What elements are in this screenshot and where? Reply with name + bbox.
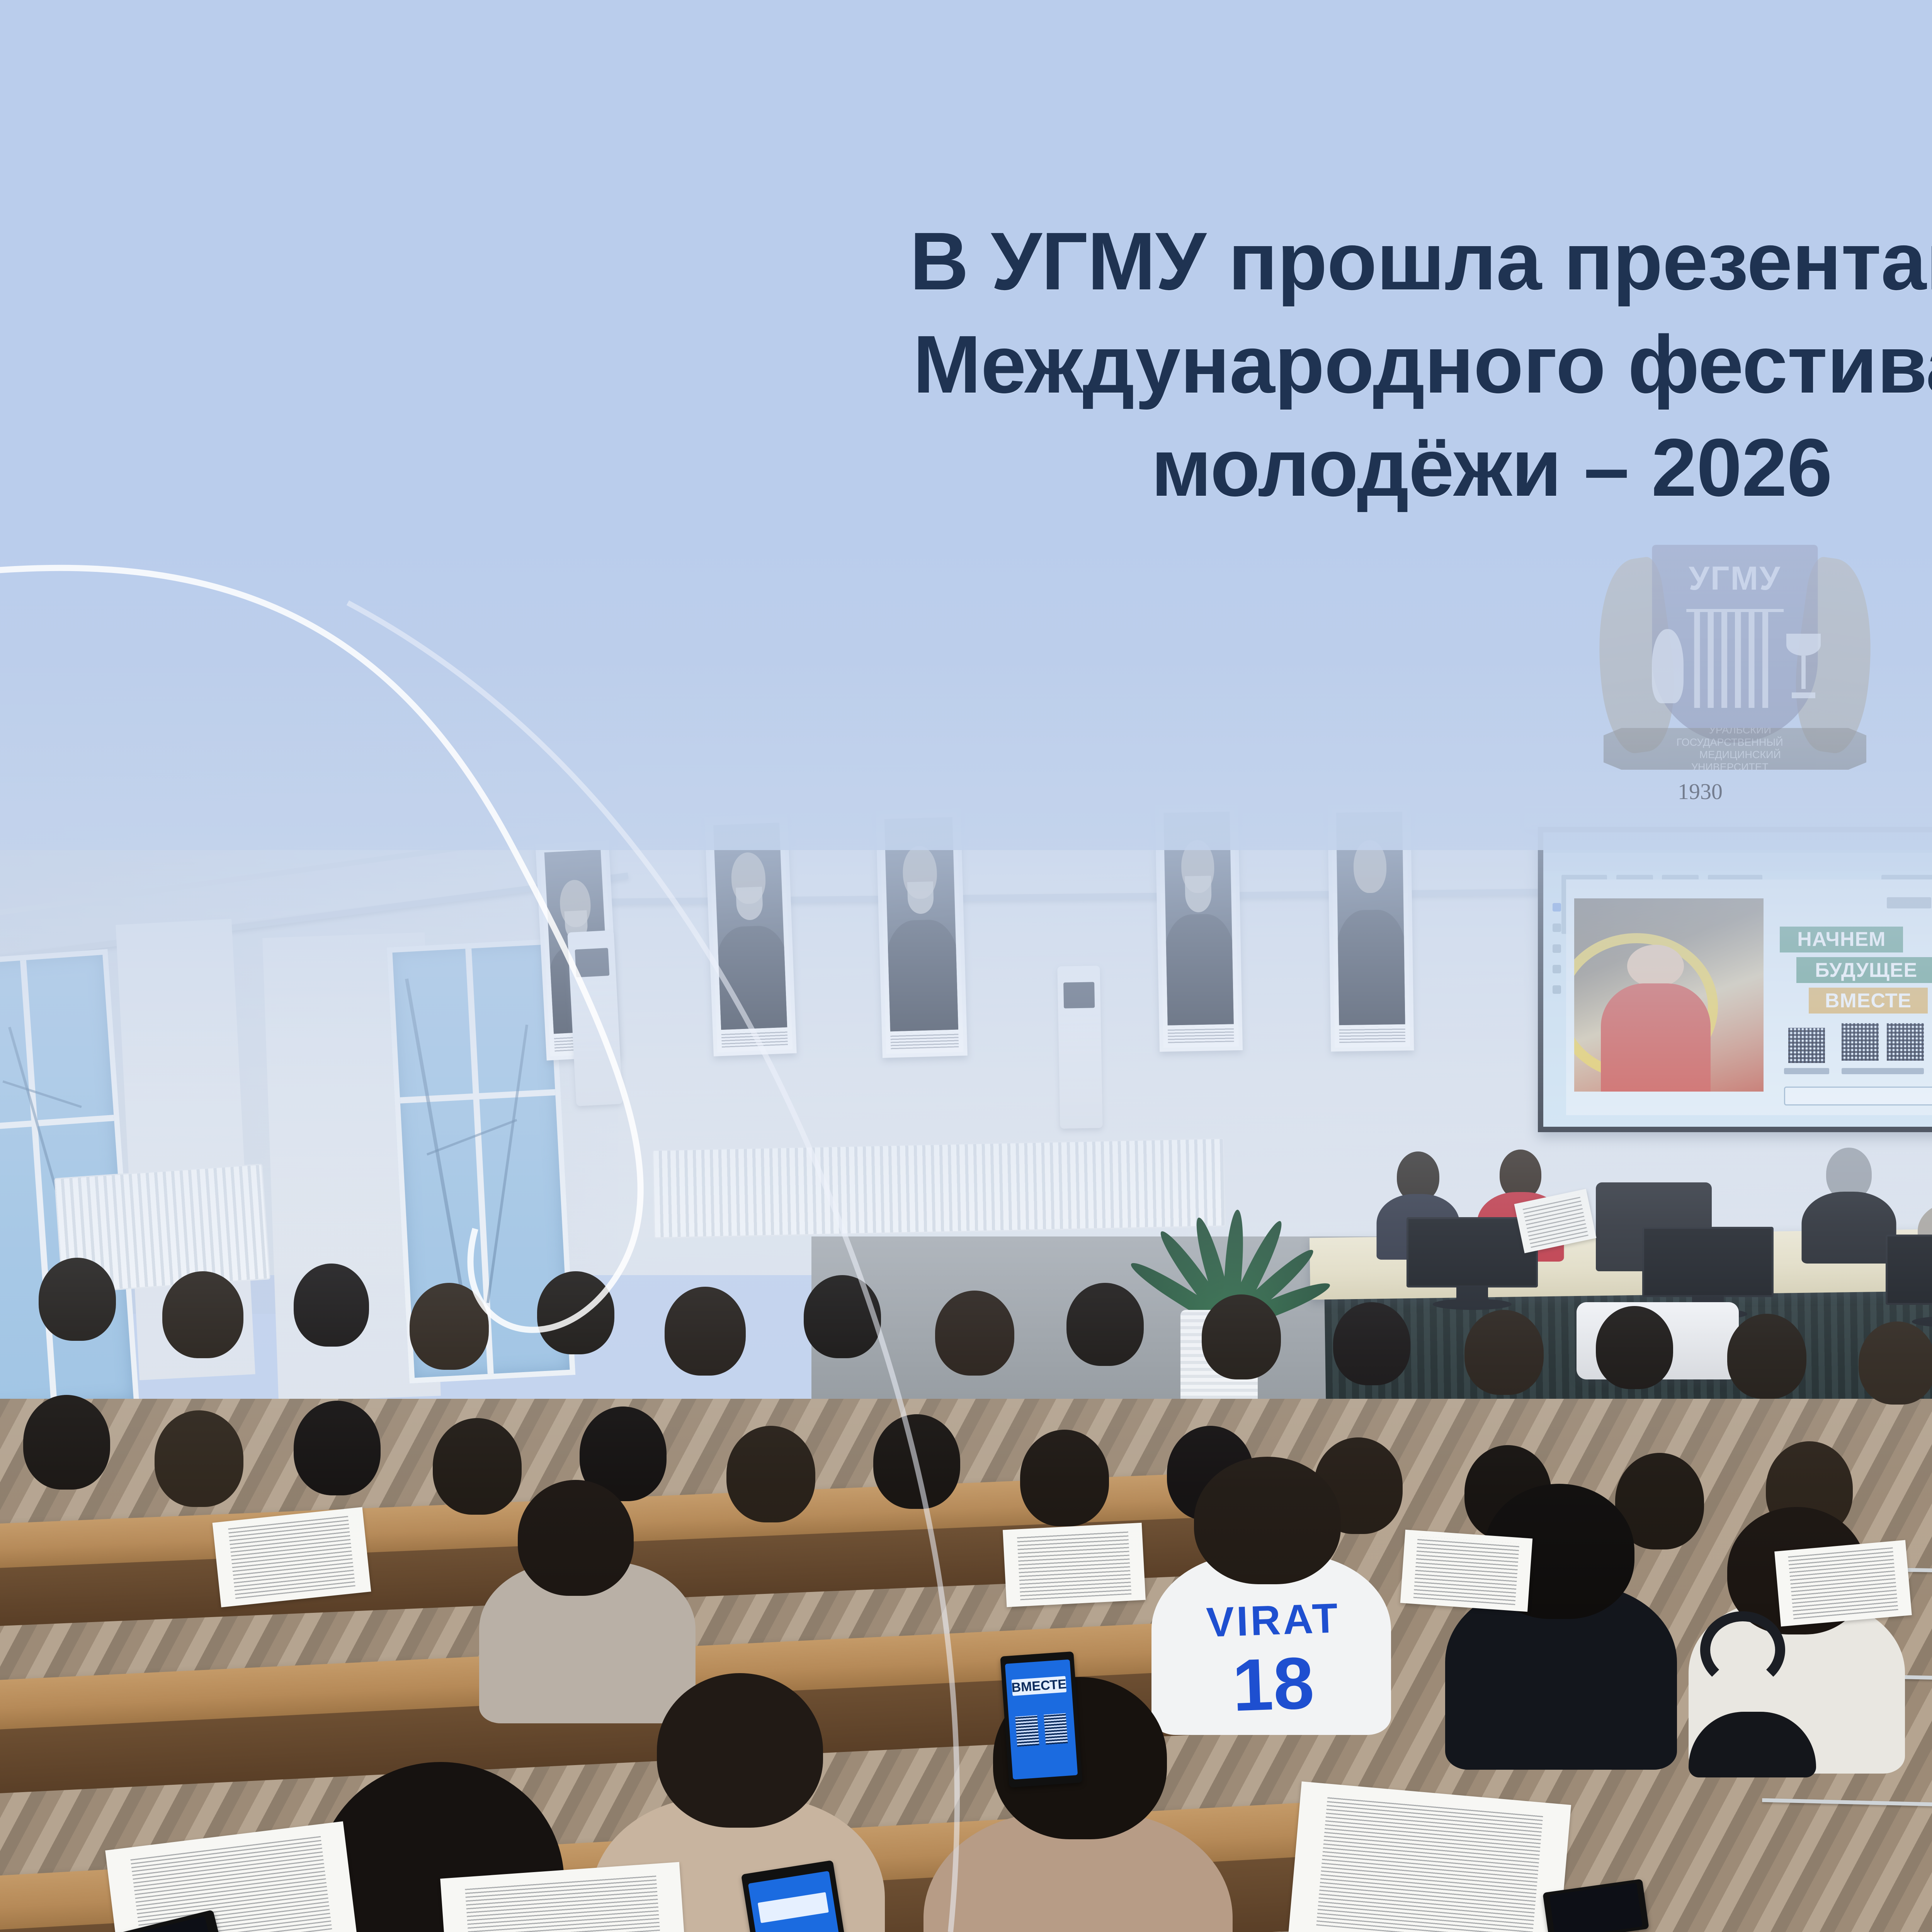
- panel-speaker: [1801, 1148, 1897, 1264]
- poster-qr-caption: [1842, 1068, 1924, 1074]
- jersey-number: 18: [1189, 1639, 1357, 1730]
- audience-head: [935, 1291, 1014, 1376]
- handout-paper: [1400, 1530, 1532, 1612]
- audience-head: [873, 1414, 960, 1509]
- audience-head: [39, 1258, 116, 1341]
- emblem-ribbon-line2: МЕДИЦИНСКИЙ УНИВЕРСИТЕТ: [1689, 749, 1781, 773]
- audience-head: [1202, 1294, 1281, 1379]
- wall-portrait: [704, 814, 797, 1056]
- panel-monitor: [1886, 1235, 1932, 1327]
- phone-held-up[interactable]: ВМЕСТЕ: [1000, 1651, 1082, 1787]
- audience-head: [23, 1395, 110, 1490]
- wall-portrait: [1328, 803, 1414, 1052]
- audience-head: [1727, 1314, 1806, 1399]
- phone-screen: ВМЕСТЕ: [1005, 1660, 1078, 1779]
- poster-slogan-line1: НАЧНЕМ: [1780, 927, 1903, 952]
- audience-head: [1020, 1430, 1109, 1526]
- panel-monitor: [1406, 1217, 1538, 1310]
- festival-poster: НАЧНЕМ БУДУЩЕЕ ВМЕСТЕ: [1566, 879, 1932, 1115]
- wall-portrait: [1155, 803, 1243, 1052]
- emblem-ribbon: УРАЛЬСКИЙ ГОСУДАРСТВЕННЫЙ МЕДИЦИНСКИЙ УН…: [1604, 728, 1867, 770]
- sidebar-icon: [1553, 903, 1561, 912]
- poster-contact-field: [1784, 1087, 1932, 1105]
- audience-head: [726, 1426, 815, 1522]
- handout-paper: [1003, 1523, 1146, 1607]
- emblem-founding-year: 1930: [1662, 779, 1739, 1932]
- poster-brand-logo: [1887, 889, 1932, 917]
- audience-head: [804, 1275, 881, 1358]
- poster-qr-code: [1842, 1023, 1879, 1061]
- sidebar-icon: [1553, 923, 1561, 932]
- poster-slogan-line3: ВМЕСТЕ: [1809, 988, 1928, 1014]
- title-line-2: Международного фестиваля: [0, 313, 1932, 416]
- phone-screen-caption: ВМЕСТЕ: [1011, 1676, 1066, 1696]
- poster-slogan-line2: БУДУЩЕЕ: [1796, 957, 1932, 983]
- audience-head: [1859, 1321, 1932, 1405]
- audience-head: [155, 1410, 243, 1507]
- handout-paper: [1774, 1540, 1912, 1627]
- sidebar-icon: [1553, 985, 1561, 994]
- poster-qr-code: [1887, 1023, 1924, 1061]
- poster-canvas: НАЧНЕМ БУДУЩЕЕ ВМЕСТЕ: [0, 0, 1932, 1932]
- audience-head: [433, 1418, 522, 1515]
- poster-qr-caption: [1784, 1068, 1829, 1074]
- audience-head: [537, 1271, 614, 1354]
- wall-controller-left: [567, 930, 622, 1106]
- title-line-3: молодёжи – 2026: [0, 416, 1932, 519]
- emblem-building-icon: [1686, 609, 1784, 708]
- ugmu-wall-emblem: УГМУ УРАЛЬСКИЙ ГОСУДАРСТВЕННЫЙ МЕДИЦИНСК…: [1592, 545, 1878, 792]
- audience-head: [1066, 1283, 1144, 1366]
- audience-head: [518, 1480, 634, 1596]
- emblem-abbreviation: УГМУ: [1689, 560, 1781, 598]
- handout-paper: [1288, 1781, 1571, 1932]
- audience-head: [665, 1287, 746, 1376]
- poster-qr-code: [1788, 1028, 1825, 1063]
- handout-paper: [213, 1507, 371, 1607]
- page-title: В УГМУ прошла презентация Международного…: [0, 209, 1932, 519]
- audience-head: [1333, 1302, 1410, 1385]
- wall-controller-center: [1057, 966, 1102, 1129]
- audience-head: [657, 1673, 823, 1828]
- sidebar-icon: [1553, 944, 1561, 953]
- audience-head: [294, 1264, 369, 1347]
- emblem-bear-icon: [1652, 629, 1683, 703]
- audience-head: [162, 1271, 243, 1358]
- audience-head: [1194, 1457, 1341, 1584]
- title-line-1: В УГМУ прошла презентация: [0, 209, 1932, 313]
- audience-head: [1464, 1310, 1544, 1395]
- wall-portrait: [876, 808, 968, 1058]
- emblem-bowl-of-hygieia-icon: [1786, 634, 1821, 698]
- jersey-name: VIRAT: [1189, 1593, 1357, 1647]
- audience-head: [410, 1283, 489, 1370]
- phone-screen-caption: [758, 1892, 829, 1923]
- audience-head: [294, 1401, 381, 1495]
- sidebar-icon: [1553, 965, 1561, 973]
